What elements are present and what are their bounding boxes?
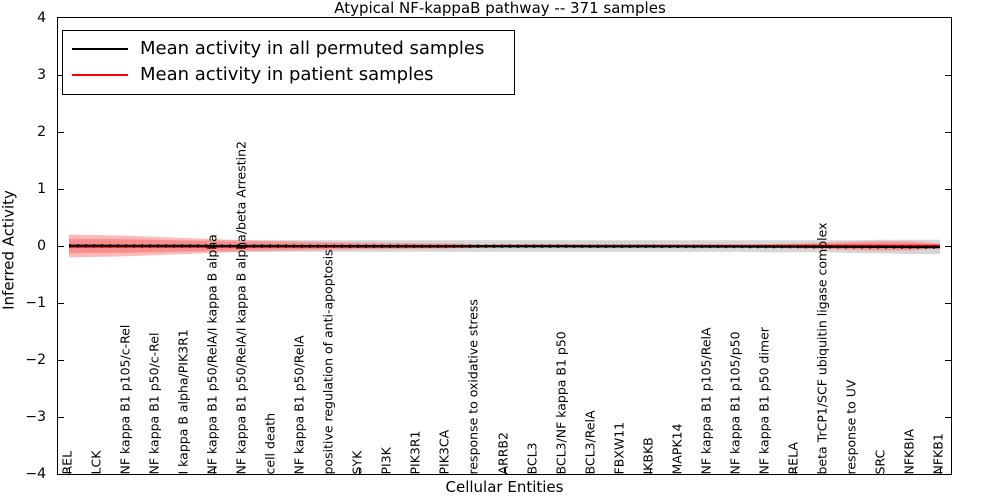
legend-line-swatch [72, 48, 128, 50]
x-axis-tick-label: PIK3CA [439, 429, 452, 474]
x-axis-tick-label: PI3K [381, 447, 394, 474]
y-axis-tick-mark [945, 75, 951, 76]
x-axis-tick-label: FBXW11 [613, 421, 626, 474]
x-axis-tick-label: SRC [874, 449, 887, 474]
x-axis-tick-label: NFKBIA [903, 428, 916, 474]
x-axis-tick-label: positive regulation of anti-apoptosis [323, 249, 336, 474]
y-axis-tick-mark [945, 360, 951, 361]
legend-item: Mean activity in patient samples [72, 62, 505, 88]
y-axis-tick-mark [58, 132, 64, 133]
x-axis-tick-label: SYK [352, 450, 365, 474]
y-axis-tick-label: 4 [0, 11, 46, 25]
y-axis-tick-mark [945, 246, 951, 247]
x-axis-tick-label: NF kappa B1 p50 dimer [758, 327, 771, 474]
x-axis-tick-label: NF kappa B1 p50/c-Rel [149, 332, 162, 474]
chart-title: Atypical NF-kappaB pathway -- 371 sample… [0, 0, 1000, 17]
x-axis-tick-label: RELA [787, 442, 800, 474]
chart-legend: Mean activity in all permuted samplesMea… [62, 30, 515, 95]
x-axis-tick-label: BCL3/RelA [584, 410, 597, 474]
y-axis-tick-mark [945, 417, 951, 418]
y-axis-tick-mark [58, 360, 64, 361]
y-axis-tick-mark [945, 189, 951, 190]
y-axis-tick-mark [58, 189, 64, 190]
x-axis-tick-label: IKBKB [642, 437, 655, 474]
x-axis-tick-label: NF kappa B1 p105/p50 [729, 331, 742, 474]
x-axis-tick-label: response to UV [845, 379, 858, 474]
x-axis-tick-label: PIK3R1 [410, 430, 423, 474]
x-axis-tick-label: NF kappa B1 p105/RelA [700, 327, 713, 474]
x-axis-tick-label: ARRB2 [497, 432, 510, 474]
x-axis-tick-label: beta TrCP1/SCF ubiquitin ligase complex [816, 222, 829, 474]
x-axis-tick-label: NF kappa B1 p50/RelA/I kappa B alpha [207, 234, 220, 474]
y-axis-tick-label: −1 [0, 296, 46, 310]
x-axis-tick-label: response to oxidative stress [468, 299, 481, 474]
legend-item: Mean activity in all permuted samples [72, 36, 505, 62]
x-axis-tick-label: BCL3 [526, 442, 539, 474]
legend-line-swatch [72, 74, 128, 76]
x-axis-tick-label: MAPK14 [671, 423, 684, 474]
x-axis-tick-label: REL [62, 450, 75, 474]
x-axis-tick-label: NF kappa B1 p50/RelA/I kappa B alpha/bet… [236, 141, 249, 475]
y-axis-tick-mark [58, 246, 64, 247]
legend-item-label: Mean activity in patient samples [140, 65, 434, 85]
y-axis-tick-label: −3 [0, 410, 46, 424]
y-axis-tick-mark [58, 417, 64, 418]
x-axis-tick-label: NF kappa B1 p105/c-Rel [120, 324, 133, 474]
x-axis-tick-label: I kappa B alpha/PIK3R1 [178, 329, 191, 474]
permuted-mean-line [69, 246, 940, 247]
legend-item-label: Mean activity in all permuted samples [140, 39, 484, 59]
x-axis-tick-label: NFKB1 [933, 433, 946, 474]
x-axis-tick-label: cell death [265, 412, 278, 474]
y-axis-tick-label: −2 [0, 353, 46, 367]
x-axis-label: Cellular Entities [57, 479, 952, 496]
y-axis-tick-label: 0 [0, 239, 46, 253]
y-axis-tick-label: −4 [0, 467, 46, 481]
chart-figure: Atypical NF-kappaB pathway -- 371 sample… [0, 0, 1000, 500]
y-axis-tick-label: 1 [0, 182, 46, 196]
x-axis-tick-label: LCK [91, 450, 104, 474]
x-axis-tick-label: BCL3/NF kappa B1 p50 [555, 331, 568, 474]
y-axis-tick-mark [945, 132, 951, 133]
x-axis-tick-label: NF kappa B1 p50/RelA [294, 335, 307, 474]
y-axis-tick-label: 3 [0, 68, 46, 82]
y-axis-tick-mark [58, 303, 64, 304]
y-axis-tick-mark [945, 303, 951, 304]
y-axis-tick-label: 2 [0, 125, 46, 139]
